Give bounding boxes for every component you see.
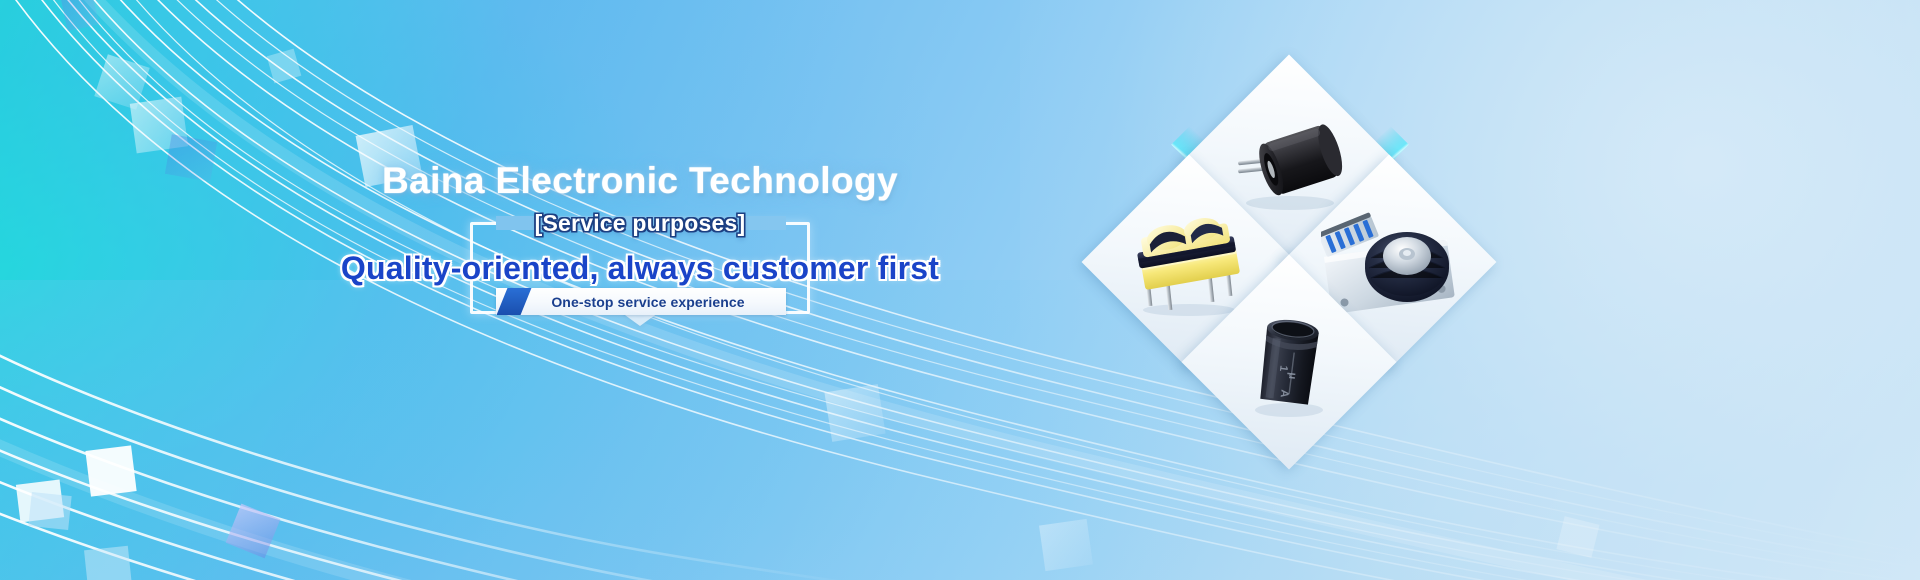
decor-square [84,546,132,580]
decor-square [226,504,281,559]
decor-square [267,49,302,84]
axial-inductor-icon [1224,107,1354,217]
decor-square [85,445,136,496]
decor-square [61,0,99,31]
decor-square [28,492,71,530]
decor-square [1039,519,1093,571]
product-image-electrolytic-capacitor: 1 μ A [1213,286,1365,438]
decor-square [1556,516,1599,558]
service-purposes-label: [Service purposes] [300,210,980,237]
decor-square [94,54,149,109]
headline-group: Baina Electronic Technology [Service pur… [300,140,980,390]
decor-square [130,97,188,154]
electrolytic-capacitor-icon: 1 μ A [1229,302,1349,422]
decor-square [165,134,217,181]
tagline: Quality-oriented, always customer first [200,250,1080,287]
badge-label: One-stop service experience [526,294,786,310]
decor-square [16,479,64,522]
promo-banner: Baina Electronic Technology [Service pur… [0,0,1920,580]
toroidal-transformer-icon [1321,202,1457,322]
status-badge: One-stop service experience [496,288,786,315]
ee-transformer-icon [1125,204,1253,320]
product-image-cluster: 1 μ A [1105,80,1475,410]
decor-square [824,384,885,442]
page-title: Baina Electronic Technology [300,160,980,202]
